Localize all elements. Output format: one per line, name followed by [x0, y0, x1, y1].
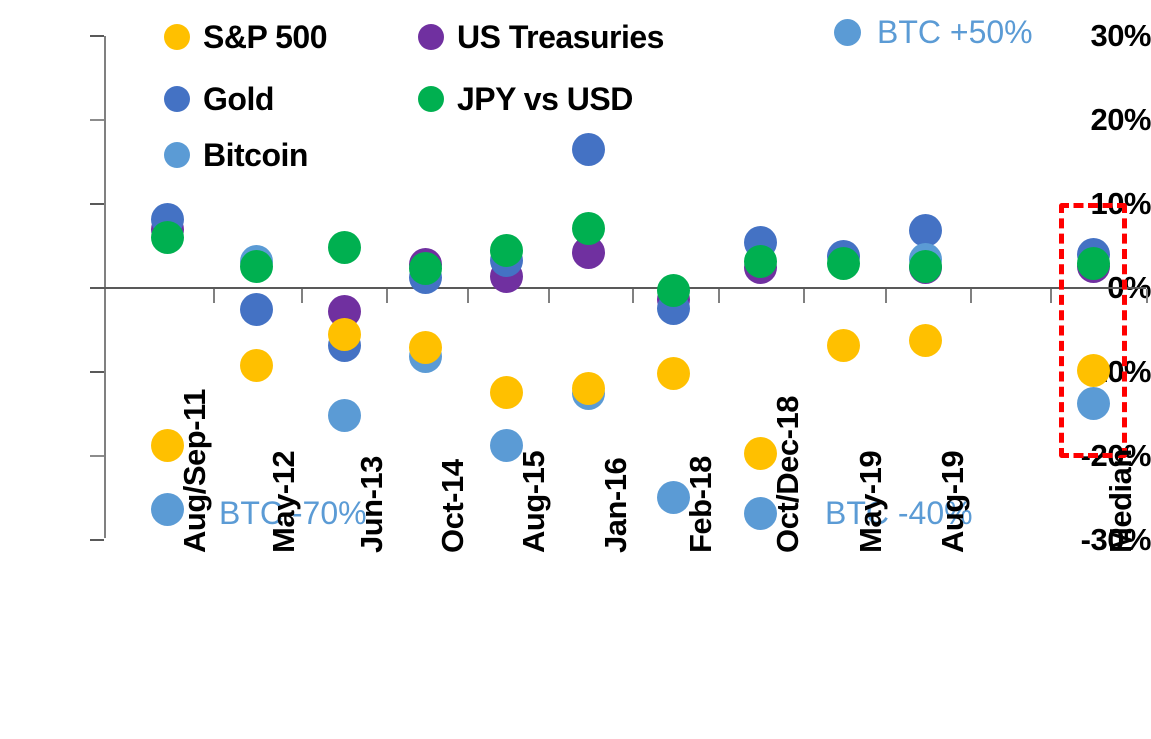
legend-label: JPY vs USD — [457, 83, 633, 115]
x-axis-label: May-19 — [855, 451, 886, 553]
x-axis-label: May-12 — [268, 451, 299, 553]
x-axis-tick — [1146, 289, 1148, 303]
y-axis-tick — [90, 119, 104, 121]
legend-label: S&P 500 — [203, 21, 327, 53]
x-axis-label: Oct-14 — [437, 460, 468, 553]
x-axis-label: Aug-19 — [937, 451, 968, 553]
annotation-label: BTC +50% — [877, 16, 1033, 48]
y-axis-tick — [90, 203, 104, 205]
data-point — [909, 324, 942, 357]
data-point — [409, 252, 442, 285]
legend-label: Bitcoin — [203, 139, 308, 171]
legend-swatch-icon — [164, 86, 190, 112]
legend-item-gold[interactable]: Gold — [164, 83, 274, 115]
annotation-dot-icon — [834, 19, 861, 46]
scatter-chart: 30%20%10%0%-10%-20%-30% S&P 500GoldBitco… — [0, 0, 1151, 739]
x-axis-label: Jan-16 — [600, 458, 631, 553]
data-point — [827, 329, 860, 362]
data-point — [657, 357, 690, 390]
legend-swatch-icon — [418, 24, 444, 50]
data-point — [657, 274, 690, 307]
data-point — [328, 318, 361, 351]
data-point — [240, 293, 273, 326]
x-axis-label: Jun-13 — [356, 456, 387, 553]
legend-item-us-treasuries[interactable]: US Treasuries — [418, 21, 664, 53]
y-axis-tick — [90, 455, 104, 457]
legend-item-jpy-vs-usd[interactable]: JPY vs USD — [418, 83, 633, 115]
data-point — [572, 212, 605, 245]
y-axis-tick — [90, 371, 104, 373]
legend-item-bitcoin[interactable]: Bitcoin — [164, 139, 308, 171]
x-axis-label: Aug/Sep-11 — [179, 389, 210, 553]
data-point — [744, 245, 777, 278]
legend-swatch-icon — [164, 142, 190, 168]
x-axis-label: Oct/Dec-18 — [772, 396, 803, 553]
legend-swatch-icon — [164, 24, 190, 50]
data-point — [827, 247, 860, 280]
data-point — [572, 372, 605, 405]
y-axis-tick — [90, 35, 104, 37]
legend-label: US Treasuries — [457, 21, 664, 53]
legend-label: Gold — [203, 83, 274, 115]
annotation-btc-plus-50: BTC +50% — [834, 16, 1033, 48]
data-point — [328, 399, 361, 432]
y-axis-tick — [90, 287, 104, 289]
x-axis-label: Feb-18 — [685, 456, 716, 553]
legend-item-s-p-500[interactable]: S&P 500 — [164, 21, 327, 53]
data-point — [490, 376, 523, 409]
data-point — [151, 221, 184, 254]
median-highlight-box — [1059, 203, 1127, 458]
data-point — [240, 250, 273, 283]
data-point — [328, 231, 361, 264]
data-point — [409, 331, 442, 364]
x-axis-label: Aug-15 — [518, 451, 549, 553]
legend-swatch-icon — [418, 86, 444, 112]
x-axis-label: Median — [1105, 449, 1136, 553]
data-point — [572, 133, 605, 166]
data-point — [490, 234, 523, 267]
data-point — [909, 250, 942, 283]
data-point — [240, 349, 273, 382]
y-axis-tick — [90, 539, 104, 541]
